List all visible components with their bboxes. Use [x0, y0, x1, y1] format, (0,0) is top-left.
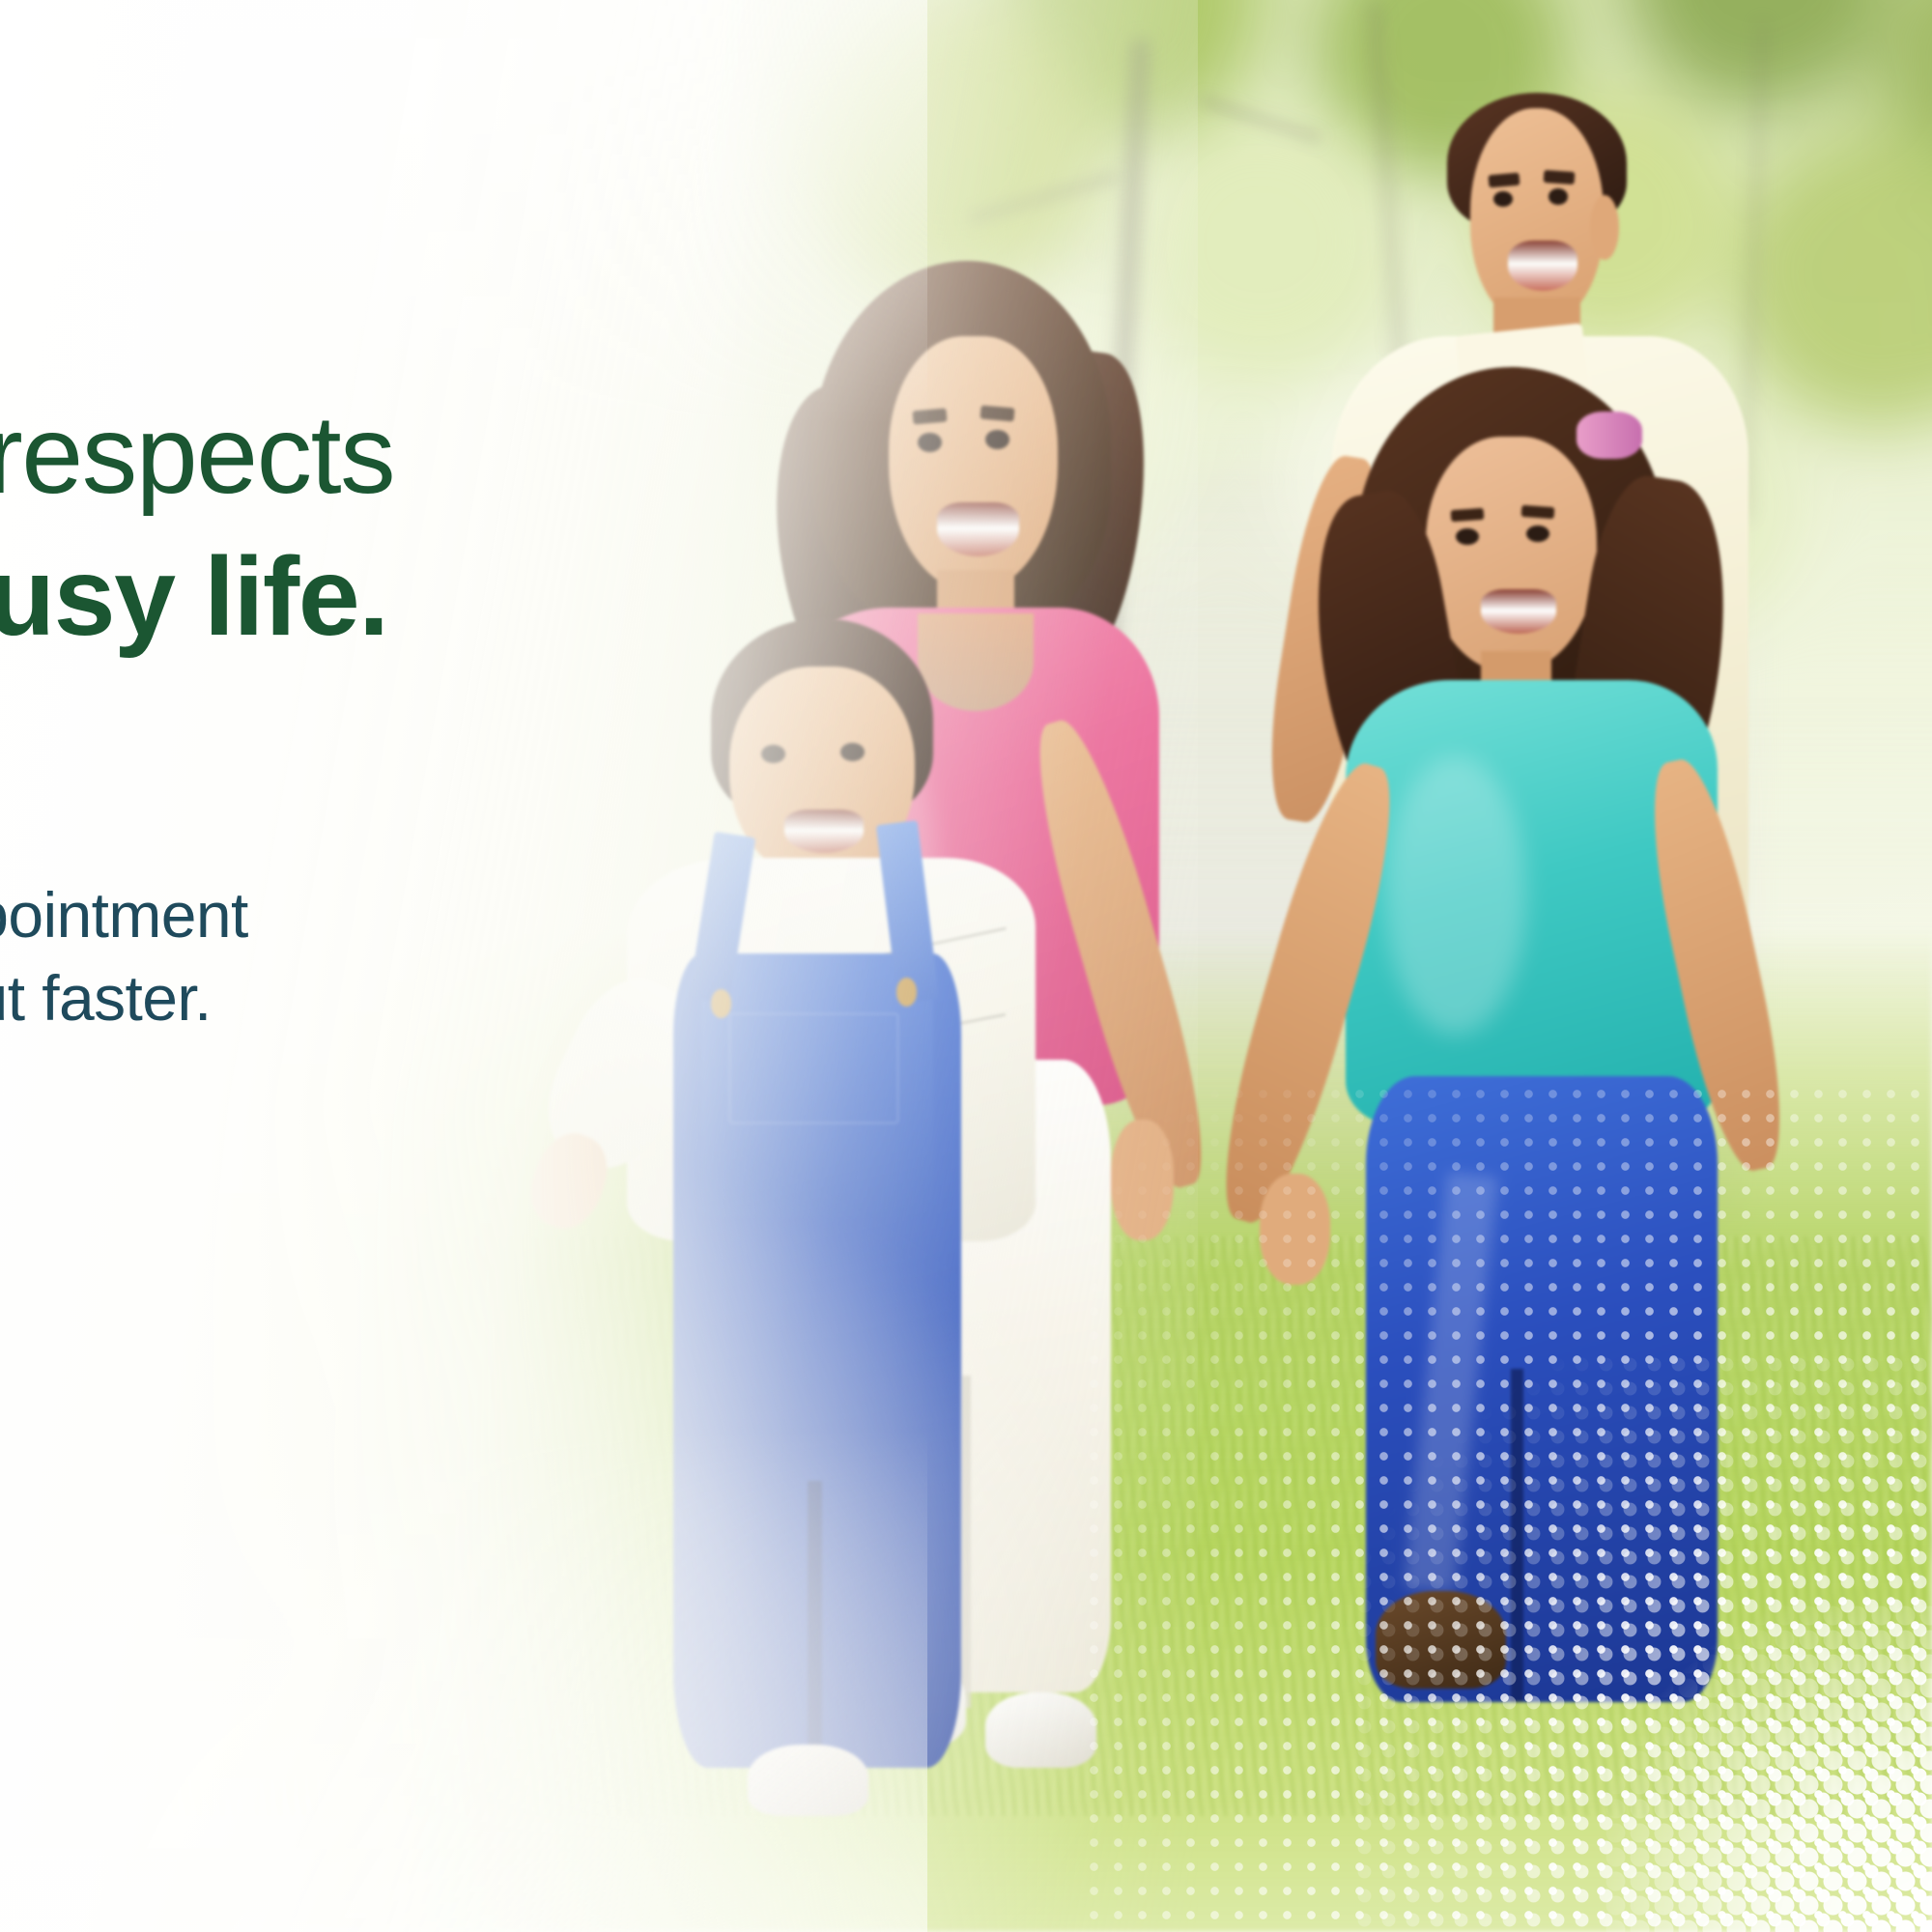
headline-line-2: your busy life. — [0, 526, 840, 668]
hero-banner: b that respects your busy life. dule an … — [0, 0, 1932, 1932]
girl-head — [1426, 437, 1597, 673]
sun-haze — [0, 1121, 1101, 1932]
father-ear — [1590, 195, 1619, 260]
girl-shoe — [1376, 1591, 1506, 1689]
mother-eye — [918, 433, 942, 452]
father-head — [1470, 108, 1604, 325]
mother-eye — [985, 430, 1009, 449]
father-eyebrow — [1489, 172, 1520, 187]
girl-hair-clip — [1577, 412, 1642, 459]
father-mouth — [1508, 241, 1577, 291]
body-line-2: et in and out faster. — [0, 957, 840, 1040]
body-copy-block: dule an appointment et in and out faster… — [0, 874, 840, 1040]
boy-mouth — [784, 810, 864, 853]
mother-hand — [1111, 1120, 1174, 1240]
headline-line-1: b that respects — [0, 384, 840, 526]
headline-bold-fragment-2: busy life. — [0, 535, 388, 659]
mother-mouth — [937, 502, 1019, 556]
headline-light-fragment: that respects — [0, 393, 394, 517]
boy-eye — [840, 743, 865, 761]
girl-jeans-seam — [1511, 1369, 1523, 1703]
person-girl — [1275, 367, 1777, 1758]
girl-hand — [1260, 1174, 1330, 1285]
girl-tshirt-highlight — [1385, 756, 1526, 1035]
girl-eyebrow — [1520, 505, 1554, 520]
headline-block: b that respects your busy life. — [0, 384, 840, 668]
boy-overalls-button — [896, 978, 918, 1007]
girl-eyebrow — [1451, 508, 1485, 523]
body-line-1: dule an appointment — [0, 874, 840, 957]
